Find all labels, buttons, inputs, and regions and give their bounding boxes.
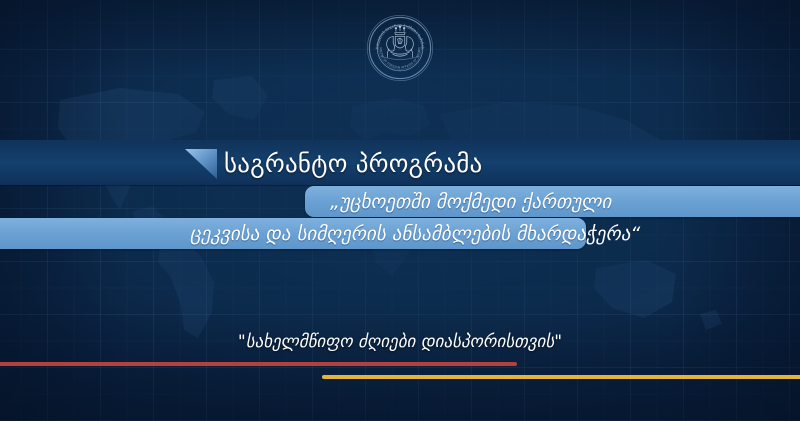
ministry-emblem-icon: საქართველოს საგარეო საქმეთა სამინისტრო M… (366, 14, 434, 82)
footer-subtitle: "სახელმწიფო ძღიები დიასპორისთვის" (0, 332, 800, 352)
banner-canvas: საქართველოს საგარეო საქმეთა სამინისტრო M… (0, 0, 800, 421)
gold-accent-rule (322, 375, 800, 379)
program-quote-line-2: ცეკვისა და სიმღერის ანსამბლების მხარდაჭე… (190, 219, 640, 248)
program-quote-line-1: „უცხოეთში მოქმედი ქართული (330, 187, 611, 216)
page-title: საგრანტო პროგრამა (224, 142, 482, 184)
chevron-arrow-icon (183, 145, 219, 181)
red-accent-rule (0, 362, 517, 366)
